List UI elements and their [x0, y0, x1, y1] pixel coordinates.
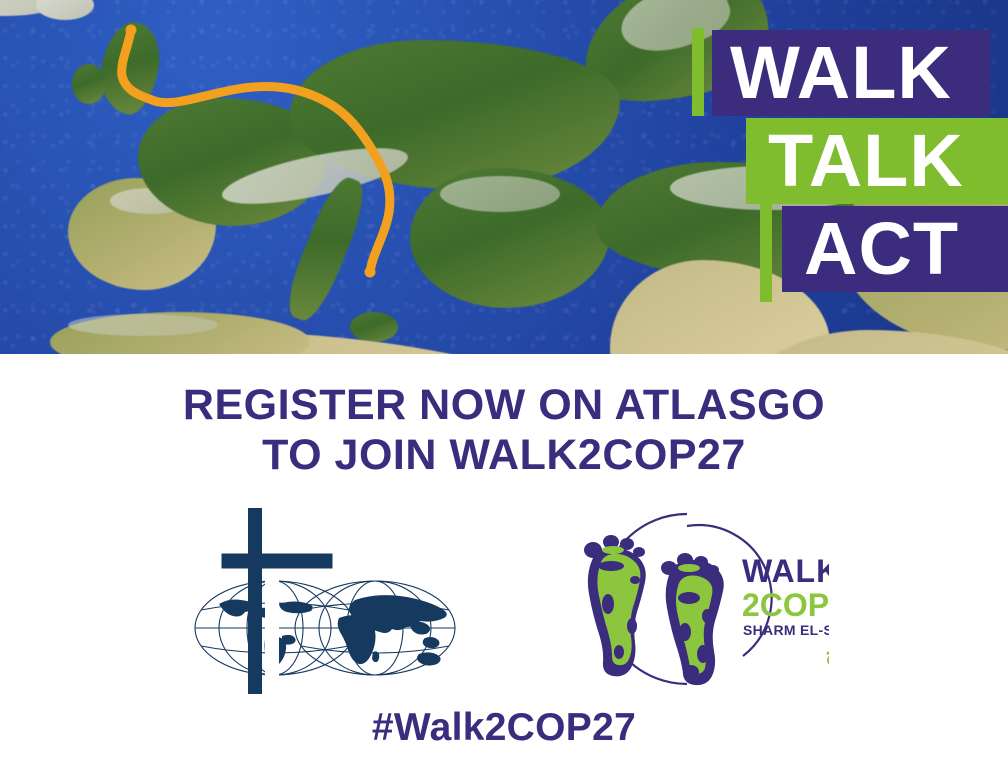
logo-word-walk: WALK — [742, 553, 829, 589]
headline: REGISTER NOW ON ATLASGO TO JOIN WALK2COP… — [0, 380, 1008, 481]
headline-line-1: REGISTER NOW ON ATLASGO — [183, 381, 825, 429]
headline-line-2: TO JOIN WALK2COP27 — [0, 430, 1008, 480]
lockup-word-act: ACT — [782, 206, 1008, 292]
footprint-right-icon — [661, 553, 724, 685]
walk-talk-act-lockup: WALK TALK ACT — [692, 22, 972, 284]
logo-row: WALK 2COP27 SHARM EL-SHEIKH شرم الشيخ — [0, 499, 1008, 699]
lockup-word-talk: TALK — [746, 118, 1008, 204]
logo-subtitle: SHARM EL-SHEIKH — [743, 622, 829, 638]
green-accent-bar-left — [692, 28, 704, 116]
logo-subtitle-arabic: شرم الشيخ — [825, 641, 829, 667]
cross-and-globes-logo — [179, 500, 471, 698]
walk2cop27-logo: WALK 2COP27 SHARM EL-SHEIKH شرم الشيخ — [537, 506, 829, 692]
poster-canvas: WALK TALK ACT REGISTER NOW ON ATLASGO TO… — [0, 0, 1008, 765]
lockup-word-walk: WALK — [712, 30, 990, 116]
logo-word-2cop27: 2COP27 — [742, 587, 829, 623]
hero-globe-image: WALK TALK ACT — [0, 0, 1008, 354]
hashtag: #Walk2COP27 — [0, 706, 1008, 750]
info-panel: REGISTER NOW ON ATLASGO TO JOIN WALK2COP… — [0, 354, 1008, 765]
footprint-left-icon — [584, 535, 646, 676]
